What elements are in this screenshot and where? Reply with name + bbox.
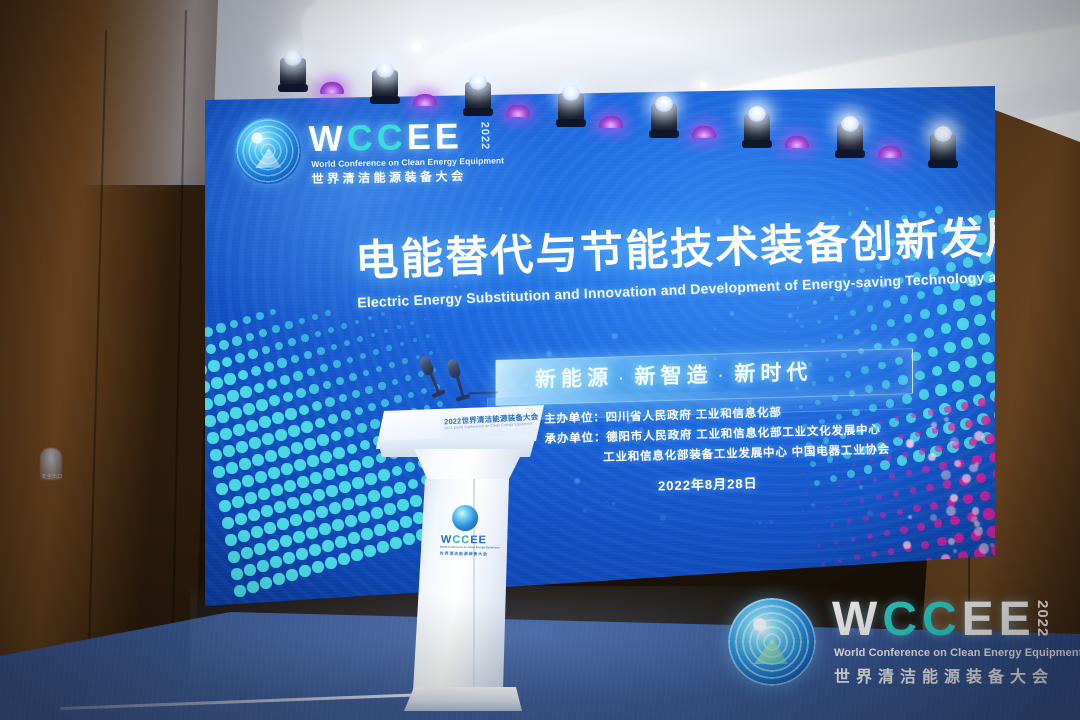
organizer-info-block: 主办单位：四川省人民政府 工业和信息化部 承办单位：德阳市人民政府 工业和信息化… — [544, 398, 946, 497]
watermark-chinese: 世界清洁能源装备大会 — [834, 663, 1054, 687]
uplight-icon — [599, 116, 623, 128]
moving-head-light-icon — [837, 124, 863, 154]
uplight-icon — [413, 94, 437, 106]
moving-head-light-icon — [280, 58, 306, 88]
downlight-icon — [412, 42, 421, 51]
moving-head-light-icon — [930, 134, 956, 164]
podium-wccee-logo: WCCEE World Conference on Clean Energy E… — [440, 505, 489, 561]
screen-dot — [858, 573, 864, 579]
uplight-icon — [692, 126, 716, 138]
uplight-icon — [878, 146, 902, 158]
podium-base — [404, 687, 522, 711]
screen-logo-wordmark: WCCEE — [308, 118, 463, 157]
moving-head-light-icon — [744, 114, 770, 144]
exit-sign-label: 安全出口 — [30, 474, 74, 486]
led-backdrop-screen: WCCEE World Conference on Clean Energy E… — [205, 86, 995, 606]
moving-head-light-icon — [558, 93, 584, 123]
uplight-icon — [785, 136, 809, 148]
stage-lighting-truss — [250, 58, 1010, 118]
globe-logo-icon — [234, 117, 301, 184]
podium-globe-icon — [452, 505, 478, 531]
screen-dot — [825, 580, 829, 584]
watermark-english: World Conference on Clean Energy Equipme… — [834, 647, 1080, 659]
watermark-globe-icon — [728, 598, 816, 686]
screen-logo-year: 2022 — [478, 122, 491, 151]
podium-neck — [398, 449, 524, 481]
uplight-icon — [506, 105, 530, 117]
corner-watermark-logo: WCCEE World Conference on Clean Energy E… — [728, 592, 1060, 692]
podium-logo-wordmark: WCCEE — [440, 535, 488, 547]
watermark-wordmark: WCCEE — [832, 596, 1036, 644]
screen-dot — [908, 562, 916, 570]
screen-logo-chinese: 世界清洁能源装备大会 — [311, 167, 466, 187]
uplight-icon — [320, 82, 344, 94]
screen-dot — [875, 569, 882, 576]
moving-head-light-icon — [372, 70, 398, 100]
speaker-podium: 2022世界清洁能源装备大会 2022 World Conference on … — [370, 405, 550, 720]
watermark-year: 2022 — [1034, 600, 1051, 637]
screen-dot — [841, 576, 846, 581]
podium-logo-chinese: 世界清洁能源装备大会 — [440, 551, 488, 558]
moving-head-light-icon — [651, 104, 677, 134]
screen-wccee-logo: WCCEE World Conference on Clean Energy E… — [234, 111, 500, 188]
moving-head-light-icon — [465, 82, 491, 112]
screen-dot — [891, 566, 898, 573]
conference-stage-photo: 安全出口 WCCEE World Conference on Clean Ene… — [0, 0, 1080, 720]
podium-logo-english: World Conference on Clean Energy Equipme… — [440, 546, 488, 550]
